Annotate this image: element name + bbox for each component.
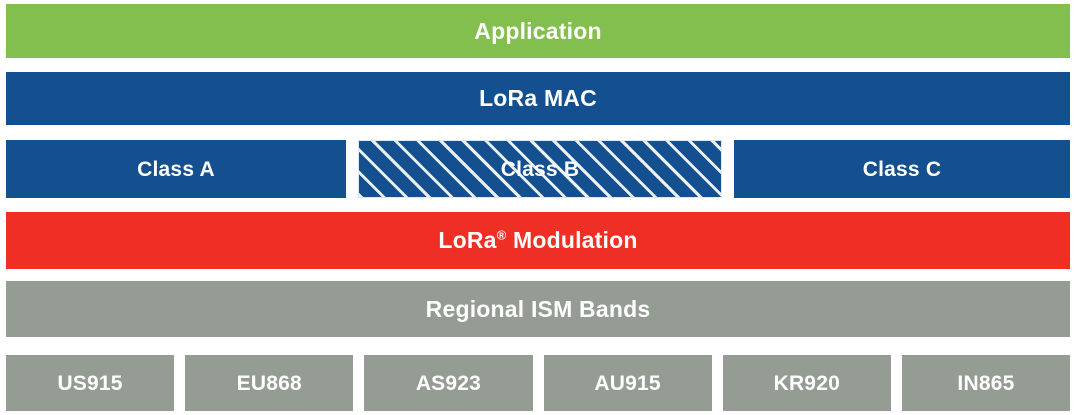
- region-chip-as923: AS923: [364, 355, 532, 411]
- layer-regional-ism-bands-label: Regional ISM Bands: [426, 298, 651, 321]
- class-c-label: Class C: [863, 159, 941, 180]
- class-a-label: Class A: [137, 159, 215, 180]
- modulation-word: Modulation: [506, 227, 637, 253]
- lora-wordmark: LoRa: [438, 227, 496, 253]
- class-a-box: Class A: [6, 140, 346, 198]
- layer-device-classes: Class A Class B Class C: [6, 140, 1070, 198]
- class-b-label: Class B: [501, 159, 579, 180]
- layer-lora-mac-label: LoRa MAC: [479, 87, 597, 110]
- layer-lora-mac: LoRa MAC: [6, 72, 1070, 125]
- layer-application: Application: [6, 4, 1070, 58]
- lorawan-protocol-stack-diagram: Application LoRa MAC Class A Class B Cla…: [0, 0, 1080, 415]
- region-chip-in865: IN865: [902, 355, 1070, 411]
- region-label-in865: IN865: [957, 373, 1014, 394]
- region-label-as923: AS923: [416, 373, 481, 394]
- region-chip-kr920: KR920: [723, 355, 891, 411]
- layer-lora-modulation: LoRa® Modulation: [6, 212, 1070, 269]
- layer-regional-ism-bands: Regional ISM Bands: [6, 281, 1070, 337]
- region-label-au915: AU915: [594, 373, 660, 394]
- region-label-eu868: EU868: [237, 373, 302, 394]
- layer-lora-modulation-label: LoRa® Modulation: [438, 229, 637, 252]
- layer-application-label: Application: [474, 20, 601, 43]
- region-chip-au915: AU915: [544, 355, 712, 411]
- region-chip-us915: US915: [6, 355, 174, 411]
- region-label-kr920: KR920: [774, 373, 840, 394]
- region-chip-eu868: EU868: [185, 355, 353, 411]
- regional-band-list: US915 EU868 AS923 AU915 KR920 IN865: [6, 355, 1070, 411]
- class-b-box: Class B: [358, 140, 722, 198]
- registered-trademark-icon: ®: [497, 227, 507, 242]
- region-label-us915: US915: [57, 373, 122, 394]
- class-c-box: Class C: [734, 140, 1070, 198]
